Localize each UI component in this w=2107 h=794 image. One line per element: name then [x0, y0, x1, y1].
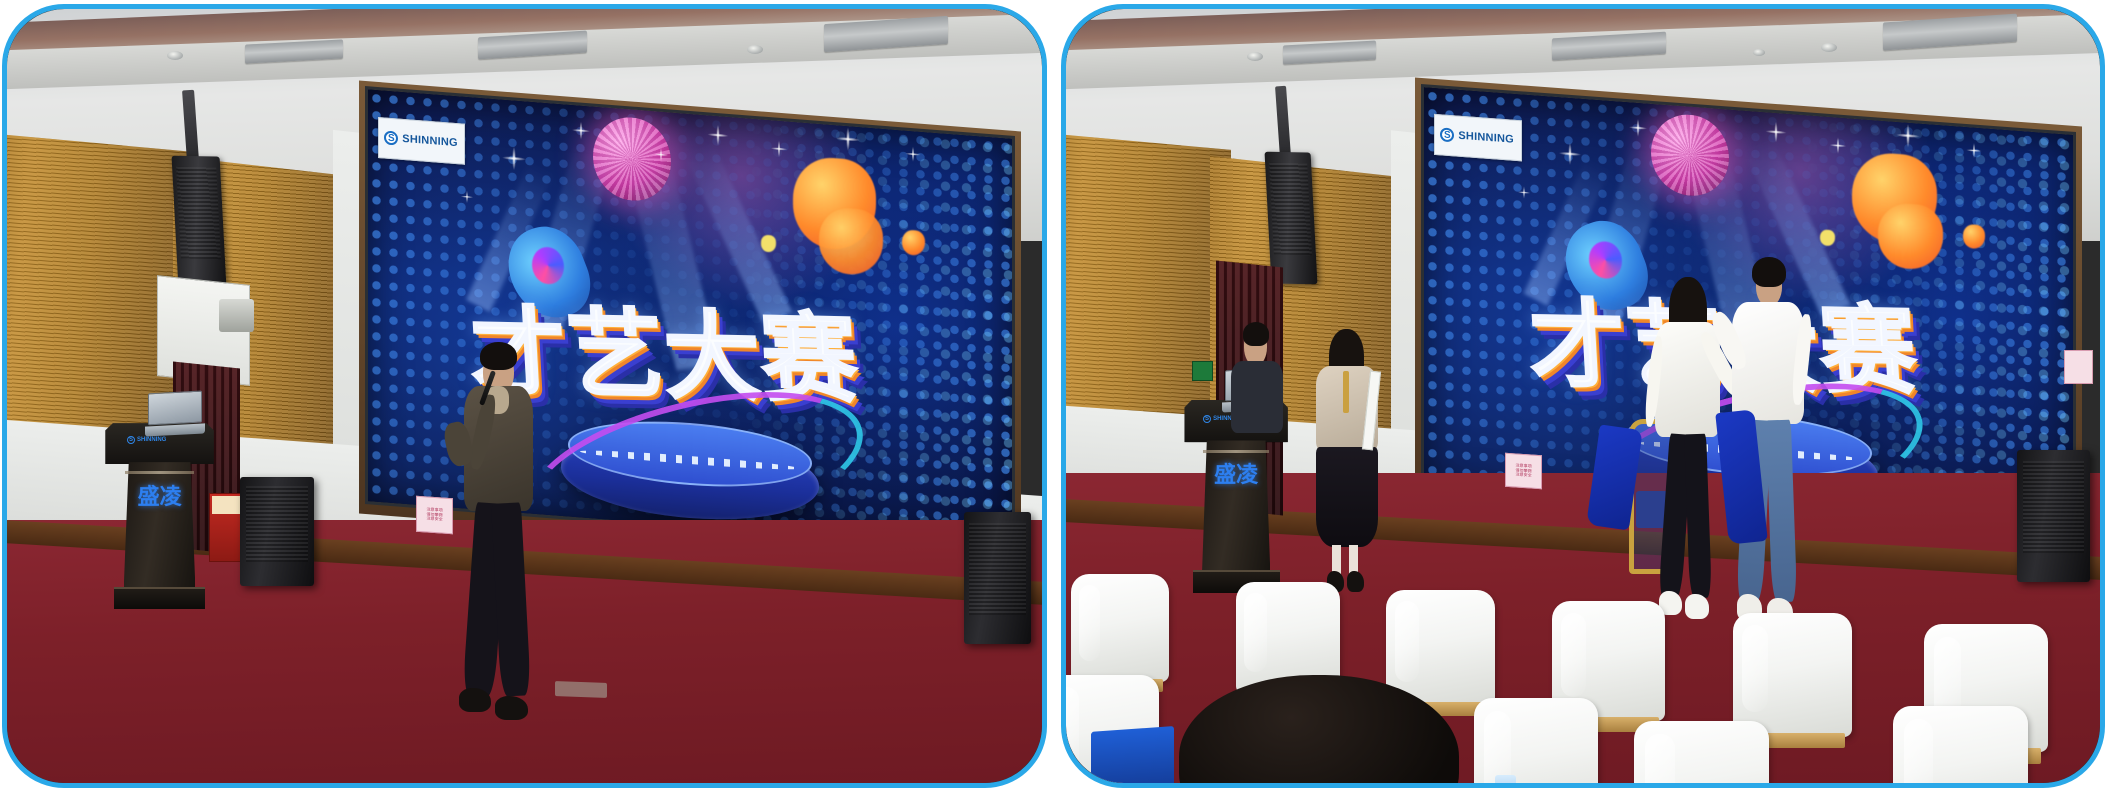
participant2-leg-right [1766, 420, 1797, 603]
laptop-screen [148, 391, 202, 426]
sparkle-star-right-7 [1515, 183, 1533, 202]
photo-right-content: S SHINNING 才艺大赛 S SHINNING [1066, 9, 2101, 783]
projector [219, 299, 254, 332]
sparkle-star-icon-8 [651, 144, 671, 166]
performer-shoe-left [459, 688, 491, 712]
sparkle-star-icon-6 [902, 143, 924, 167]
floor-speaker-right-grille [969, 523, 1025, 615]
speaker-grille [175, 166, 220, 259]
podium-brand-logo: S SHINNING [127, 436, 166, 444]
speaker-grille-right [1269, 162, 1312, 255]
podium-stripe-top [125, 471, 195, 474]
host-skirt [1316, 447, 1378, 547]
sparkle-star-icon-1 [497, 140, 531, 177]
sparkle-star-right-1 [1554, 137, 1586, 171]
floor-speaker-left [240, 477, 314, 585]
photo-collage: S SHINNING 才艺大赛 [0, 0, 2107, 794]
photo-panel-right[interactable]: S SHINNING 才艺大赛 S SHINNING [1061, 4, 2106, 788]
shinning-brand-text: SHINNING [402, 133, 458, 149]
floor-cable-plate [555, 681, 607, 698]
person-host[interactable] [1309, 334, 1387, 597]
notice-sign-right: 注意事项 请勿攀爬 注意安全 [1505, 453, 1542, 490]
chair-sheen [1742, 625, 1768, 712]
podium[interactable]: S SHINNING 盛凌 [105, 423, 214, 609]
sparkle-star-right-2 [1625, 114, 1651, 142]
performer-hair [480, 342, 516, 370]
exit-sign-icon [1192, 361, 1214, 381]
floor-speaker-right [964, 512, 1031, 644]
podium-logo-icon-right: S [1203, 415, 1211, 423]
sparkle-star-right-5 [1892, 118, 1926, 154]
photo-panel-left[interactable]: S SHINNING 才艺大赛 [2, 4, 1047, 788]
floor-speaker-right-panel-grille [2023, 461, 2084, 553]
podium-base [114, 587, 205, 609]
chair-sheen [1244, 593, 1267, 672]
chair-sheen [1484, 711, 1511, 783]
shinning-brand-text-right: SHINNING [1459, 130, 1515, 146]
operator-hair [1243, 322, 1270, 346]
wall-notice-right [2064, 350, 2093, 384]
sparkle-star-icon-4 [767, 137, 791, 163]
sparkle-star-right-3 [1762, 116, 1792, 148]
podium-stripe-right [1203, 450, 1269, 453]
photo-left-content: S SHINNING 才艺大赛 [7, 9, 1042, 783]
person-operator[interactable] [1226, 326, 1288, 434]
host-lanyard [1343, 371, 1349, 413]
shinning-logo-icon-right: S [1441, 128, 1455, 143]
podium-laptop[interactable] [148, 391, 202, 437]
shinning-brand-plate: S SHINNING [378, 117, 465, 165]
chair-r1-c3 [1386, 590, 1495, 706]
ceiling-downlight-2 [167, 51, 183, 60]
host-shoe-right [1347, 571, 1364, 592]
chair-r2-c3 [1634, 721, 1768, 783]
participant1-leg-right [1684, 434, 1712, 598]
floor-speaker-right-panel [2017, 450, 2089, 582]
fire-box-label [212, 496, 243, 514]
shinning-logo-icon: S [384, 131, 398, 146]
podium-body-right [1202, 440, 1270, 572]
sparkle-star-icon-2 [567, 117, 593, 145]
performer-shoe-right [495, 696, 528, 720]
chair-sheen [1066, 687, 1079, 774]
podium-name-cn: 盛凌 [105, 486, 214, 509]
podium-name-cn-right: 盛凌 [1184, 464, 1287, 487]
sparkle-star-right-4 [1827, 133, 1851, 159]
ceiling-downlight-right-1 [1821, 43, 1837, 52]
water-bottle [1495, 775, 1516, 783]
hanging-speaker [171, 156, 226, 288]
performer-leg-right [491, 502, 531, 696]
chair-sheen [1904, 719, 1934, 783]
blue-box-item [1091, 726, 1174, 783]
chair-sheen [1395, 601, 1419, 682]
yellow-blob [761, 235, 776, 253]
sparkle-star-right-6 [1963, 139, 1985, 163]
chair-sheen [1561, 613, 1586, 697]
podium-logo-text: SHINNING [137, 437, 166, 443]
floor-speaker-grille [246, 486, 309, 562]
sparkle-star-icon-7 [458, 187, 476, 206]
ceiling-downlight-1 [747, 45, 763, 54]
shinning-brand-plate-right: S SHINNING [1435, 114, 1523, 161]
chair-r1-c1 [1071, 574, 1169, 682]
chair-sheen [1645, 734, 1675, 783]
notice-right-line-3: 注意安全 [1516, 473, 1532, 479]
sparkle-star-icon-3 [703, 119, 733, 151]
operator-torso [1231, 361, 1283, 433]
hanging-speaker-right [1265, 152, 1318, 284]
chair-r2-c4 [1893, 706, 2027, 783]
sparkle-star-icon-5 [831, 121, 865, 158]
chair-r1-c5 [1733, 613, 1852, 737]
chair-r2-c2 [1474, 698, 1598, 783]
participant1-shoe-right [1685, 594, 1709, 618]
chair-sheen [1079, 585, 1101, 661]
podium-body [124, 462, 196, 588]
podium-logo-icon: S [127, 436, 135, 444]
participant2-hair [1752, 257, 1786, 287]
orange-blob-3 [902, 229, 925, 255]
